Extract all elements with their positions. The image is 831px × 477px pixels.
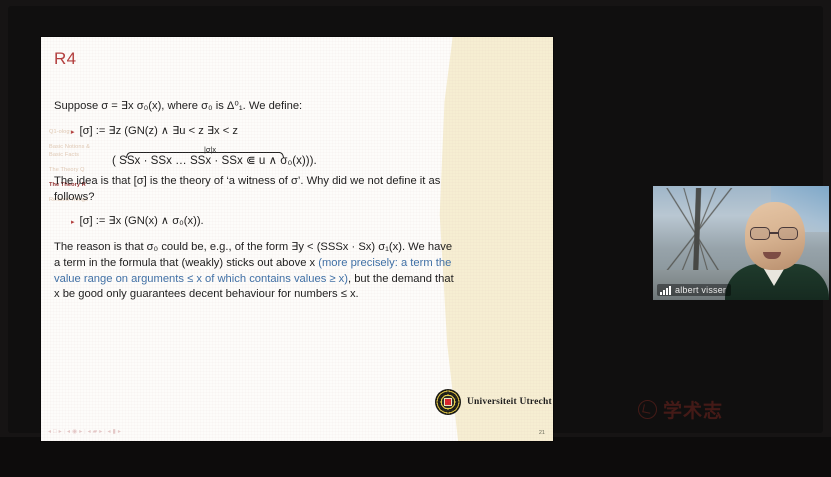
slide-paragraph-reason: The reason is that σ₀ could be, e.g., of… [54,240,454,302]
bullet-2-text: [σ] := ∃x (GN(x) ∧ σ₀(x)). [80,214,454,230]
nav-next-doc-icon[interactable]: ▸ [118,428,121,436]
video-scene [653,186,829,300]
meeting-window: R4 Q1-ology Basic Notions & Basic Facts … [0,0,831,477]
glasses-bridge [770,232,778,234]
bullet-marker-icon: ▸ [71,214,75,231]
slide-bullet-2: ▸ [σ] := ∃x (GN(x) ∧ σ₀(x)). [54,214,454,231]
slide-body: Suppose σ = ∃x σ₀(x), where σ₀ is Δ⁰₁. W… [54,99,454,312]
nav-section-icon[interactable]: ▰ [93,428,98,436]
nav-subsection-icon[interactable]: ◉ [72,428,77,436]
meeting-canvas: R4 Q1-ology Basic Notions & Basic Facts … [8,6,823,433]
nav-next-frame-icon[interactable]: ▸ [59,428,62,436]
participant-nameplate: albert visser [657,284,731,296]
slide-overbrace-formula: |σ|x ( SSx · SSx … SSx · SSx ⋐ u ∧ σ₀(x)… [54,144,454,161]
nav-prev-frame-icon[interactable]: ◂ [48,428,51,436]
nav-prev-subsection-icon[interactable]: ◂ [67,428,70,436]
nav-next-section-icon[interactable]: ▸ [99,428,102,436]
slide-page-number: 21 [539,430,545,436]
beamer-navigation-bar[interactable]: ◂ □ ▸ | ◂ ◉ ▸ | ◂ ▰ ▸ | ◂ ▮ ▸ [48,428,121,436]
video-snowy-tree [661,188,733,280]
nav-sep: | [104,429,105,435]
signal-bars-icon [660,286,671,295]
nav-doc-icon[interactable]: ▮ [113,428,116,436]
glasses-right-lens [778,227,798,240]
glasses-icon [749,227,801,240]
watermark-logo-icon [638,400,657,419]
slide-bullet-1: ▸ [σ] := ∃z (GN(z) ∧ ∃u < z ∃x < z [54,124,454,141]
slide-title: R4 [54,49,76,69]
nav-sep: | [64,429,65,435]
watermark: 学术志 [638,396,723,423]
utrecht-sun-icon [435,389,461,415]
university-logo: Universiteit Utrecht [435,389,552,415]
meeting-stage: R4 Q1-ology Basic Notions & Basic Facts … [0,0,831,437]
participant-video-tile[interactable]: albert visser [653,186,829,300]
nav-frame-icon[interactable]: □ [53,428,57,436]
glasses-left-lens [750,227,770,240]
slide-paragraph-idea: The idea is that [σ] is the theory of ‘a… [54,174,454,205]
university-name: Universiteit Utrecht [467,397,552,407]
nav-prev-section-icon[interactable]: ◂ [88,428,91,436]
bullet-1-line-1: [σ] := ∃z (GN(z) ∧ ∃u < z ∃x < z [80,124,454,140]
watermark-text: 学术志 [663,396,723,423]
slide-sidebar-band [471,37,553,441]
nav-next-subsection-icon[interactable]: ▸ [79,428,82,436]
participant-name: albert visser [675,285,726,295]
nav-sep: | [84,429,85,435]
slide-paragraph-intro: Suppose σ = ∃x σ₀(x), where σ₀ is Δ⁰₁. W… [54,99,454,115]
nav-prev-doc-icon[interactable]: ◂ [108,428,111,436]
bullet-marker-icon: ▸ [71,124,75,141]
shared-slide[interactable]: R4 Q1-ology Basic Notions & Basic Facts … [41,37,553,441]
bullet-1-line-2: ( SSx · SSx … SSx · SSx ⋐ u ∧ σ₀(x))). [112,154,317,167]
